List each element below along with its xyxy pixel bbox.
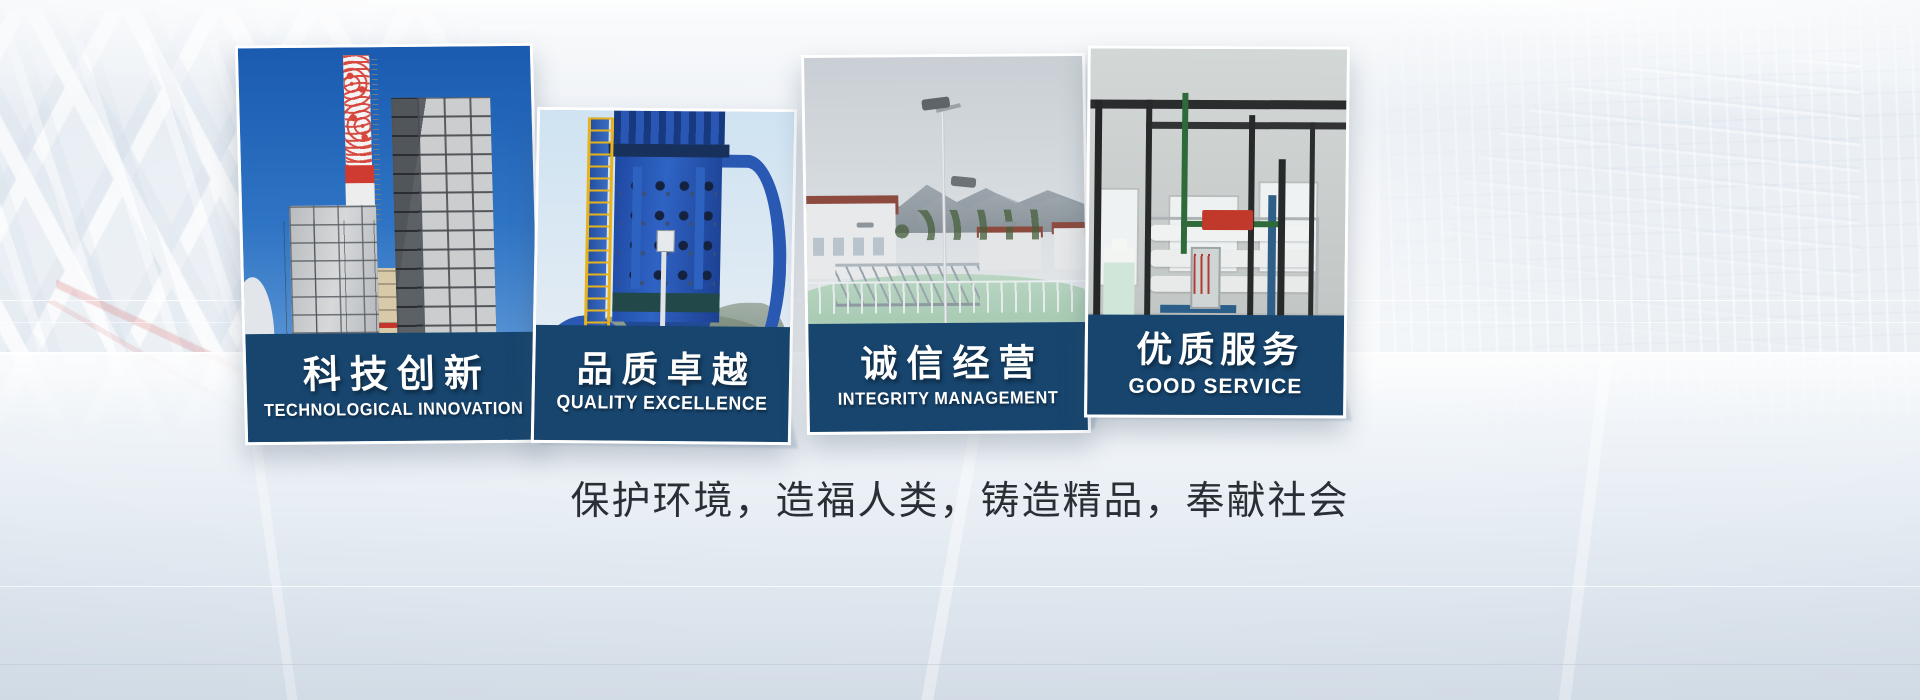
feature-panel-integrity-management[interactable]: 诚信经营 INTEGRITY MANAGEMENT	[801, 53, 1091, 435]
panel-title-cn-4: 优质服务	[1127, 332, 1304, 370]
panel-title-cn-1: 科技创新	[293, 354, 491, 396]
panel-caption-2: 品质卓越 QUALITY EXCELLENCE	[534, 325, 790, 442]
panel-title-en-3: INTEGRITY MANAGEMENT	[838, 389, 1059, 410]
feature-panel-technological-innovation[interactable]: 科技创新 TECHNOLOGICAL INNOVATION	[235, 43, 544, 445]
feature-panel-group: 科技创新 TECHNOLOGICAL INNOVATION	[0, 0, 1920, 700]
panel-title-cn-2: 品质卓越	[567, 351, 757, 390]
feature-panel-quality-excellence[interactable]: 品质卓越 QUALITY EXCELLENCE	[531, 107, 797, 445]
panel-title-en-1: TECHNOLOGICAL INNOVATION	[263, 399, 523, 421]
panel-title-en-4: GOOD SERVICE	[1128, 375, 1302, 399]
panel-title-en-2: QUALITY EXCELLENCE	[556, 394, 767, 417]
panel-caption-1: 科技创新 TECHNOLOGICAL INNOVATION	[245, 332, 540, 443]
panel-caption-3: 诚信经营 INTEGRITY MANAGEMENT	[808, 322, 1088, 432]
feature-panel-good-service[interactable]: 优质服务 GOOD SERVICE	[1084, 46, 1350, 419]
panel-title-cn-3: 诚信经营	[851, 345, 1045, 385]
banner-tagline: 保护环境，造福人类，铸造精品，奉献社会	[0, 470, 1920, 526]
panel-caption-4: 优质服务 GOOD SERVICE	[1087, 315, 1344, 416]
banner-stage: 科技创新 TECHNOLOGICAL INNOVATION	[0, 0, 1920, 700]
